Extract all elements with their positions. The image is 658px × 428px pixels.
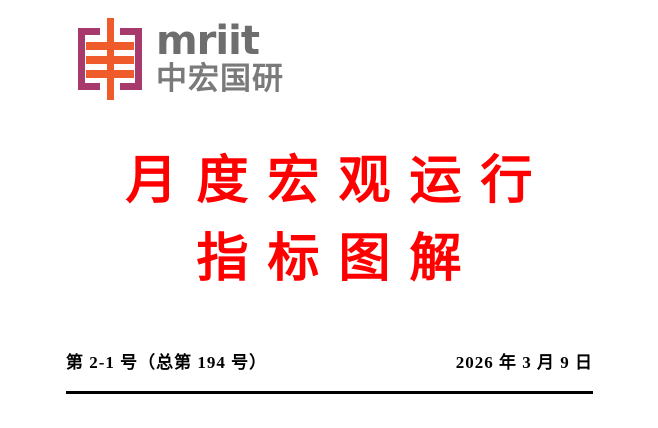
logo-bar-group xyxy=(86,42,134,78)
logo-wordmark: mriit 中宏国研 xyxy=(156,22,284,96)
footer-divider-rule xyxy=(66,391,593,394)
page-title-line-2: 指标图解 xyxy=(0,220,658,298)
publication-date: 2026 年 3 月 9 日 xyxy=(456,348,593,373)
page-title: 月度宏观运行 指标图解 xyxy=(0,142,658,298)
report-cover-page: mriit 中宏国研 月度宏观运行 指标图解 第 2-1 号（总第 194 号）… xyxy=(0,0,658,428)
brand-latin-name: mriit xyxy=(156,22,284,60)
masthead: mriit 中宏国研 xyxy=(76,18,284,100)
logo-bar xyxy=(86,70,134,78)
logo-bar xyxy=(86,56,134,64)
logo-bar xyxy=(86,42,134,50)
brand-chinese-name: 中宏国研 xyxy=(156,62,284,96)
cover-footer: 第 2-1 号（总第 194 号） 2026 年 3 月 9 日 xyxy=(66,348,593,373)
mriit-bracket-mark-icon xyxy=(76,18,144,100)
issue-number: 第 2-1 号（总第 194 号） xyxy=(66,348,267,373)
page-title-line-1: 月度宏观运行 xyxy=(0,142,658,220)
